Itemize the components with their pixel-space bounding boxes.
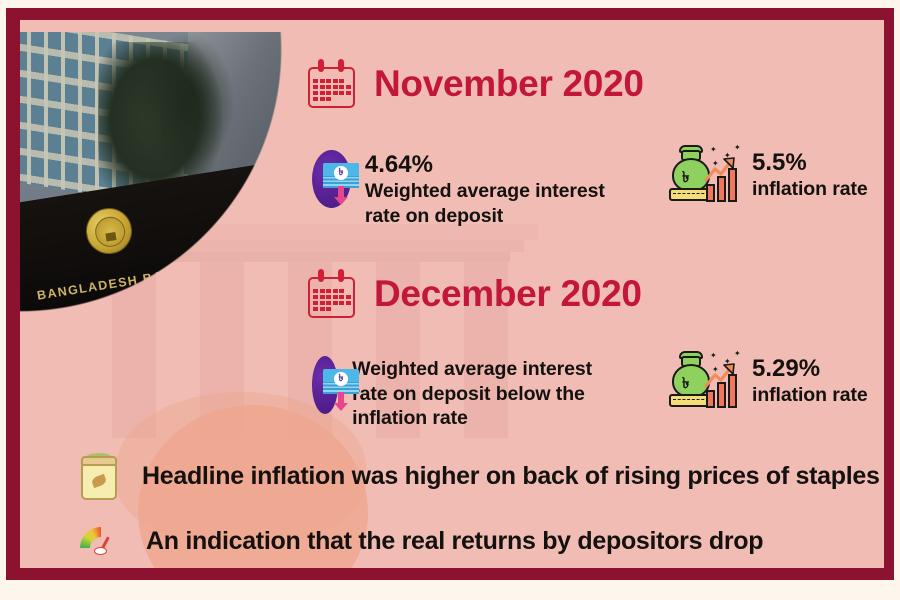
month-title-november: November 2020	[374, 63, 644, 105]
up-trend-arrow-icon	[704, 362, 738, 388]
sparkle-icon: ✦	[734, 350, 741, 358]
sparkle-icon: ✦	[734, 144, 741, 152]
statement-text-staples: Headline inflation was higher on back of…	[142, 463, 880, 491]
money-bag-growth-icon: ✦ ✦ ✦ ✦ ৳	[668, 350, 742, 412]
infographic-canvas: BANGLADESH BANK November 2020	[0, 0, 900, 600]
calendar-grid	[313, 289, 351, 311]
metric-deposit-november: ৳ 4.64% Weighted average interest rate o…	[312, 150, 622, 228]
growth-bar-1	[706, 184, 715, 202]
statement-text-returns: An indication that the real returns by d…	[146, 528, 763, 556]
down-arrow-icon	[338, 186, 344, 197]
maroon-frame: BANGLADESH BANK November 2020	[6, 8, 894, 580]
deposit-value-november: 4.64%	[365, 151, 622, 179]
content-panel: BANGLADESH BANK November 2020	[20, 20, 884, 568]
sparkle-icon: ✦	[710, 352, 717, 360]
metric-deposit-december: ৳ Weighted average interest rate on depo…	[312, 356, 622, 431]
photo-foliage	[140, 32, 235, 172]
seal-inner-ring	[93, 215, 127, 249]
statement-row-returns: An indication that the real returns by d…	[78, 523, 763, 561]
metric-inflation-december: ✦ ✦ ✦ ✦ ৳	[668, 350, 883, 412]
statement-row-staples: Headline inflation was higher on back of…	[78, 452, 880, 502]
up-trend-arrow-icon	[704, 156, 738, 182]
taka-coin-icon: ৳	[334, 372, 348, 386]
calendar-grid	[313, 79, 351, 101]
down-arrow-icon	[338, 392, 344, 403]
inflation-label-december: inflation rate	[752, 383, 868, 408]
calendar-icon	[306, 268, 358, 320]
month-title-december: December 2020	[374, 273, 642, 315]
inflation-value-december: 5.29%	[752, 355, 868, 383]
deposit-description-december: Weighted average interest rate on deposi…	[352, 357, 622, 431]
growth-bar-1	[706, 390, 715, 408]
taka-coin-icon: ৳	[334, 166, 348, 180]
money-bag-growth-icon: ✦ ✦ ✦ ✦ ৳	[668, 144, 742, 206]
section-header-november: November 2020	[306, 58, 644, 110]
section-header-december: December 2020	[306, 268, 642, 320]
inflation-value-november: 5.5%	[752, 149, 868, 177]
deposit-description-november: Weighted average interest rate on deposi…	[365, 179, 622, 228]
calendar-icon	[306, 58, 358, 110]
deposit-rate-icon: ৳	[312, 150, 351, 208]
bangladesh-bank-photo: BANGLADESH BANK	[20, 32, 292, 344]
sparkle-icon: ✦	[710, 146, 717, 154]
deposit-rate-icon: ৳	[312, 356, 338, 414]
grain-sack-icon	[78, 452, 122, 502]
gauge-hub	[94, 547, 107, 555]
gauge-meter-icon	[78, 523, 126, 561]
seal-emblem	[105, 232, 116, 241]
inflation-label-november: inflation rate	[752, 177, 868, 202]
metric-inflation-november: ✦ ✦ ✦ ✦ ৳	[668, 144, 878, 206]
